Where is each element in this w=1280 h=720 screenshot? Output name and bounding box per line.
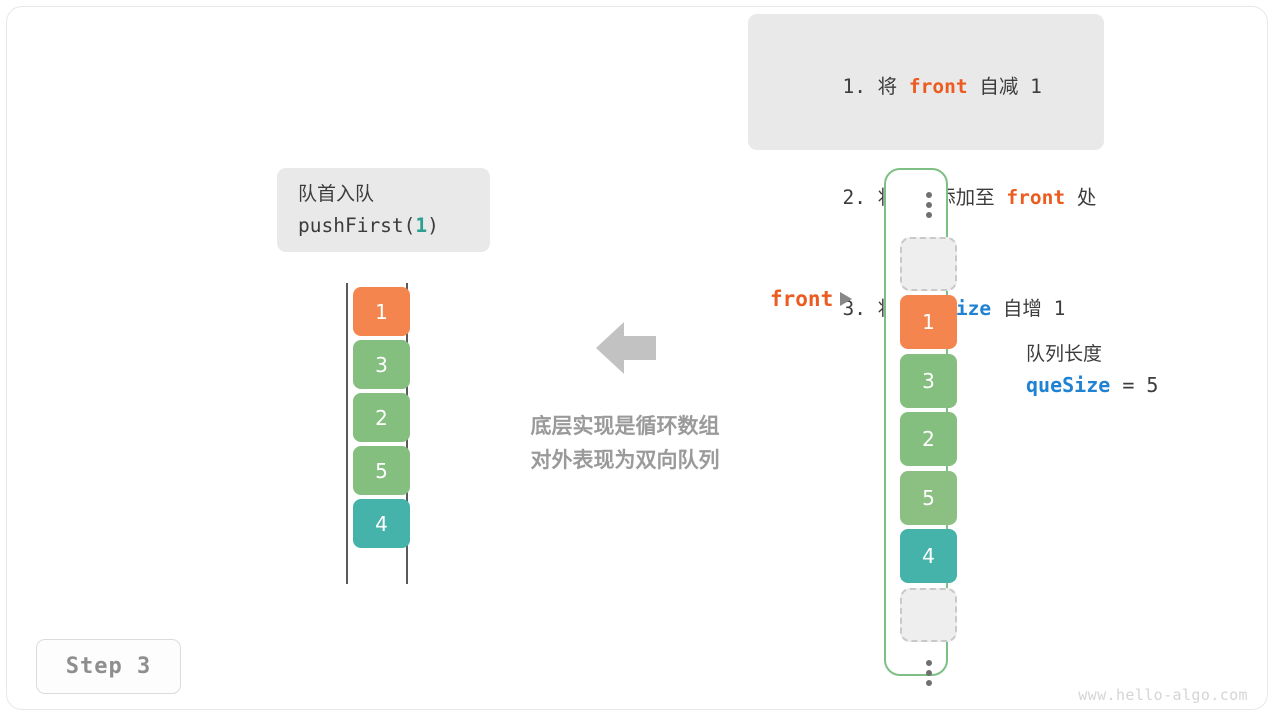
circular-empty-slot-7 bbox=[900, 588, 957, 642]
logical-cell-1: 3 bbox=[353, 340, 410, 389]
quesize-readout: 队列长度 queSize = 5 bbox=[1026, 340, 1256, 401]
logical-cell-value: 3 bbox=[375, 355, 388, 375]
circular-cell-value: 3 bbox=[922, 371, 935, 391]
operation-code: pushFirst(1) bbox=[298, 210, 469, 241]
circular-cell-4: 2 bbox=[900, 412, 957, 466]
circular-cell-value: 1 bbox=[922, 312, 935, 332]
quesize-title: 队列长度 bbox=[1026, 340, 1256, 370]
circular-array-container: 13254 bbox=[884, 168, 948, 676]
ellipsis-icon-0 bbox=[900, 192, 957, 218]
logical-cell-2: 2 bbox=[353, 393, 410, 442]
logical-cell-value: 2 bbox=[375, 408, 388, 428]
ellipsis-dot bbox=[926, 212, 932, 218]
steps-callout-panel: 1. 将 front 自减 1 2. 将元素添加至 front 处 3. 将 q… bbox=[748, 14, 1104, 150]
logical-cell-value: 5 bbox=[375, 461, 388, 481]
operation-code-suffix: ) bbox=[427, 214, 439, 237]
operation-code-arg: 1 bbox=[415, 214, 427, 237]
circular-cell-value: 4 bbox=[922, 546, 935, 566]
logical-cell-value: 1 bbox=[375, 302, 388, 322]
left-array-rail-left bbox=[346, 283, 348, 584]
step-line-1: 1. 将 front 自减 1 bbox=[772, 31, 1080, 142]
circular-cell-value: 2 bbox=[922, 429, 935, 449]
watermark: www.hello-algo.com bbox=[1078, 686, 1248, 704]
operation-title: 队首入队 bbox=[298, 180, 469, 210]
logical-cell-3: 5 bbox=[353, 446, 410, 495]
front-pointer-label: front bbox=[770, 287, 833, 311]
circular-empty-slot-1 bbox=[900, 237, 957, 291]
step-line-2-keyword: front bbox=[1006, 186, 1065, 209]
step-line-2-suffix: 处 bbox=[1065, 186, 1096, 209]
step-badge: Step 3 bbox=[36, 639, 181, 694]
front-pointer-arrow-icon bbox=[840, 292, 852, 306]
logical-cell-4: 4 bbox=[353, 499, 410, 548]
mapping-caption: 底层实现是循环数组 对外表现为双向队列 bbox=[470, 410, 780, 478]
operation-code-prefix: pushFirst( bbox=[298, 214, 415, 237]
ellipsis-dot bbox=[926, 680, 932, 686]
step-line-1-suffix: 自减 1 bbox=[968, 75, 1042, 98]
diagram-canvas: 1. 将 front 自减 1 2. 将元素添加至 front 处 3. 将 q… bbox=[0, 0, 1280, 720]
mapping-caption-line-2: 对外表现为双向队列 bbox=[470, 444, 780, 478]
logical-cell-value: 4 bbox=[375, 514, 388, 534]
step-line-1-prefix: 1. 将 bbox=[842, 75, 908, 98]
quesize-name: queSize bbox=[1026, 373, 1110, 397]
step-line-3-suffix: 自增 1 bbox=[991, 297, 1065, 320]
step-line-1-keyword: front bbox=[909, 75, 968, 98]
operation-callout-panel: 队首入队 pushFirst(1) bbox=[277, 168, 490, 252]
mapping-arrow-icon bbox=[596, 320, 656, 376]
front-pointer: front bbox=[770, 283, 852, 315]
logical-cell-0: 1 bbox=[353, 287, 410, 336]
quesize-value: 5 bbox=[1146, 373, 1158, 397]
ellipsis-dot bbox=[926, 660, 932, 666]
ellipsis-dot bbox=[926, 202, 932, 208]
mapping-caption-line-1: 底层实现是循环数组 bbox=[470, 410, 780, 444]
quesize-expression: queSize = 5 bbox=[1026, 370, 1256, 401]
circular-cell-6: 4 bbox=[900, 529, 957, 583]
ellipsis-dot bbox=[926, 670, 932, 676]
logical-deque-array: 13254 bbox=[346, 283, 408, 584]
circular-cell-2: 1 bbox=[900, 295, 957, 349]
circular-cell-3: 3 bbox=[900, 354, 957, 408]
circular-cell-5: 5 bbox=[900, 471, 957, 525]
ellipsis-icon-8 bbox=[900, 660, 957, 686]
ellipsis-dot bbox=[926, 192, 932, 198]
circular-cell-value: 5 bbox=[922, 488, 935, 508]
quesize-equals: = bbox=[1110, 373, 1146, 397]
